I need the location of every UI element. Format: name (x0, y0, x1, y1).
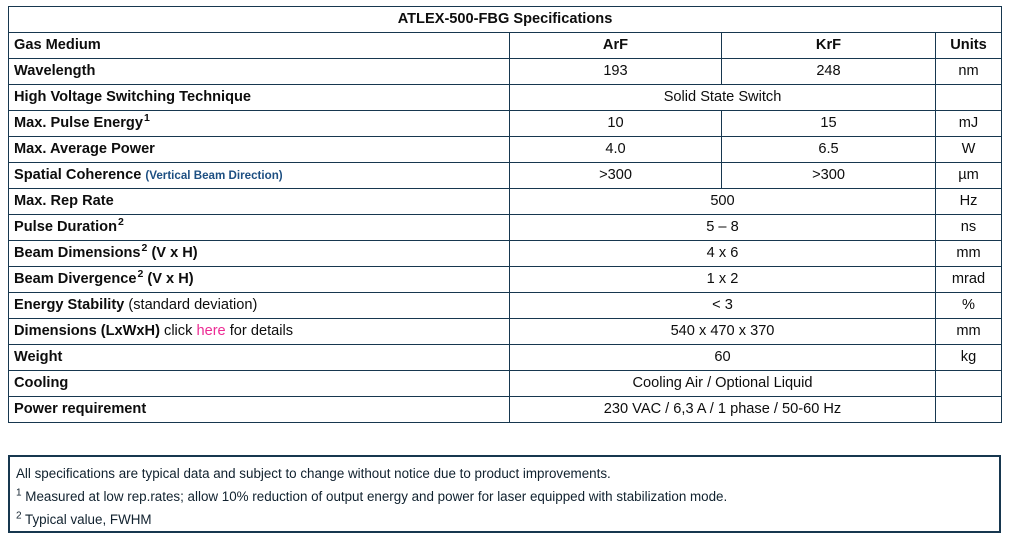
table-row: Beam Divergence2 (V x H) 1 x 2 mrad (9, 267, 1002, 293)
footnote-2-marker: 2 (16, 511, 22, 522)
row-label-cooling: Cooling (9, 371, 510, 397)
label-text: Beam Dimensions (14, 245, 141, 261)
specifications-table-container: ATLEX-500-FBG Specifications Gas Medium … (8, 6, 1001, 423)
row-label-power-requirement: Power requirement (9, 397, 510, 423)
label-text: Max. Pulse Energy (14, 115, 143, 131)
table-row: Dimensions (LxWxH) click here for detail… (9, 319, 1002, 345)
table-row: Beam Dimensions2 (V x H) 4 x 6 mm (9, 241, 1002, 267)
value-krf: >300 (722, 163, 936, 189)
column-header-krf: KrF (722, 33, 936, 59)
row-label-max-rep-rate: Max. Rep Rate (9, 189, 510, 215)
label-after-link-text: for details (230, 323, 293, 339)
table-header-row: Gas Medium ArF KrF Units (9, 33, 1002, 59)
table-row: Weight 60 kg (9, 345, 1002, 371)
table-row: Power requirement 230 VAC / 6,3 A / 1 ph… (9, 397, 1002, 423)
row-label-wavelength: Wavelength (9, 59, 510, 85)
value-units: mJ (936, 111, 1002, 137)
value-units (936, 371, 1002, 397)
label-text: Beam Divergence (14, 271, 137, 287)
row-label-max-pulse-energy: Max. Pulse Energy1 (9, 111, 510, 137)
table-row: Spatial Coherence (Vertical Beam Directi… (9, 163, 1002, 189)
table-row: Wavelength 193 248 nm (9, 59, 1002, 85)
footnote-marker-2: 2 (141, 242, 148, 254)
table-row: High Voltage Switching Technique Solid S… (9, 85, 1002, 111)
footnotes-box: All specifications are typical data and … (8, 455, 1001, 533)
table-title-row: ATLEX-500-FBG Specifications (9, 7, 1002, 33)
column-header-gas-medium: Gas Medium (9, 33, 510, 59)
value-units (936, 397, 1002, 423)
value-units: mrad (936, 267, 1002, 293)
table-row: Pulse Duration2 5 – 8 ns (9, 215, 1002, 241)
label-text: Weight (14, 349, 62, 365)
row-label-dimensions: Dimensions (LxWxH) click here for detail… (9, 319, 510, 345)
value-arf: >300 (510, 163, 722, 189)
label-text: Spatial Coherence (14, 167, 141, 183)
value-arf: 10 (510, 111, 722, 137)
value-units: µm (936, 163, 1002, 189)
table-title: ATLEX-500-FBG Specifications (9, 7, 1002, 33)
value-units: nm (936, 59, 1002, 85)
value-krf: 6.5 (722, 137, 936, 163)
footnote-marker-2: 2 (137, 268, 144, 280)
value-spanned: 4 x 6 (510, 241, 936, 267)
value-units: mm (936, 241, 1002, 267)
footnote-2-text: Typical value, FWHM (25, 512, 152, 527)
value-units: Hz (936, 189, 1002, 215)
label-text: Energy Stability (14, 297, 124, 313)
label-text: Max. Average Power (14, 141, 155, 157)
value-krf: 15 (722, 111, 936, 137)
row-label-pulse-duration: Pulse Duration2 (9, 215, 510, 241)
value-spanned: 60 (510, 345, 936, 371)
value-spanned: 230 VAC / 6,3 A / 1 phase / 50-60 Hz (510, 397, 936, 423)
label-suffix-axes: (V x H) (147, 271, 193, 287)
column-header-units: Units (936, 33, 1002, 59)
table-row: Max. Pulse Energy1 10 15 mJ (9, 111, 1002, 137)
value-units: W (936, 137, 1002, 163)
table-row: Max. Average Power 4.0 6.5 W (9, 137, 1002, 163)
footnote-1-marker: 1 (16, 488, 22, 499)
label-text: Cooling (14, 375, 68, 391)
value-spanned: 5 – 8 (510, 215, 936, 241)
column-header-arf: ArF (510, 33, 722, 59)
row-label-weight: Weight (9, 345, 510, 371)
table-row: Cooling Cooling Air / Optional Liquid (9, 371, 1002, 397)
dimensions-details-link[interactable]: here (196, 323, 225, 339)
value-spanned: 1 x 2 (510, 267, 936, 293)
label-text: High Voltage Switching Technique (14, 89, 251, 105)
value-spanned: Cooling Air / Optional Liquid (510, 371, 936, 397)
row-label-energy-stability: Energy Stability (standard deviation) (9, 293, 510, 319)
table-row: Energy Stability (standard deviation) < … (9, 293, 1002, 319)
label-text: Wavelength (14, 63, 95, 79)
table-row: Max. Rep Rate 500 Hz (9, 189, 1002, 215)
value-spanned: < 3 (510, 293, 936, 319)
row-label-max-average-power: Max. Average Power (9, 137, 510, 163)
label-text: Power requirement (14, 401, 146, 417)
label-note-vertical-beam-direction: (Vertical Beam Direction) (145, 169, 282, 182)
footnote-marker-2: 2 (117, 216, 124, 228)
value-spanned: Solid State Switch (510, 85, 936, 111)
row-label-beam-dimensions: Beam Dimensions2 (V x H) (9, 241, 510, 267)
value-units: kg (936, 345, 1002, 371)
footnote-2: 2 Typical value, FWHM (16, 508, 993, 531)
row-label-high-voltage-switching-technique: High Voltage Switching Technique (9, 85, 510, 111)
value-spanned: 500 (510, 189, 936, 215)
footnote-1: 1 Measured at low rep.rates; allow 10% r… (16, 485, 993, 508)
footnote-general: All specifications are typical data and … (16, 462, 993, 485)
value-spanned: 540 x 470 x 370 (510, 319, 936, 345)
row-label-beam-divergence: Beam Divergence2 (V x H) (9, 267, 510, 293)
value-arf: 193 (510, 59, 722, 85)
label-note-standard-deviation: (standard deviation) (128, 297, 257, 313)
label-text: Max. Rep Rate (14, 193, 114, 209)
value-units: ns (936, 215, 1002, 241)
label-text: Dimensions (LxWxH) (14, 323, 160, 339)
label-text: Pulse Duration (14, 219, 117, 235)
row-label-spatial-coherence: Spatial Coherence (Vertical Beam Directi… (9, 163, 510, 189)
value-krf: 248 (722, 59, 936, 85)
label-click-text: click (164, 323, 192, 339)
value-arf: 4.0 (510, 137, 722, 163)
footnote-1-text: Measured at low rep.rates; allow 10% red… (25, 489, 727, 504)
label-suffix-axes: (V x H) (151, 245, 197, 261)
specifications-table: ATLEX-500-FBG Specifications Gas Medium … (8, 6, 1002, 423)
footnote-marker-1: 1 (143, 112, 150, 124)
value-units: % (936, 293, 1002, 319)
value-units (936, 85, 1002, 111)
value-units: mm (936, 319, 1002, 345)
